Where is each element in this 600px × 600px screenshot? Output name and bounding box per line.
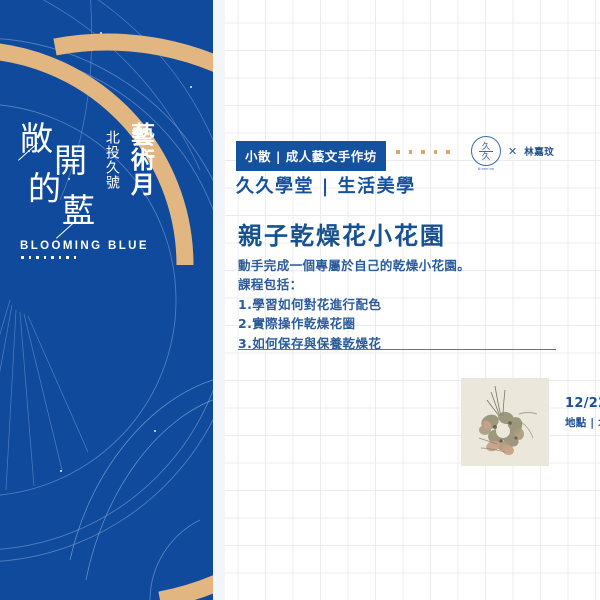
- logo-char-bottom: 久: [471, 153, 501, 162]
- decorative-arcs: [0, 0, 213, 600]
- description-line: 課程包括：: [238, 275, 568, 294]
- logo-caption: Ninenine: [465, 167, 507, 171]
- partner-name: 林嘉玟: [524, 144, 554, 158]
- vertical-label-location: 北投久號: [104, 130, 119, 190]
- series-subtitle: 久久學堂 | 生活美學: [236, 172, 416, 198]
- brand-char-3: 的: [28, 172, 61, 205]
- poster-root: 敞 開 的 藍 BLOOMING BLUE 北投久號 藝術月 小散 | 成人藝文…: [0, 0, 600, 600]
- page-title: 親子乾燥花小花園: [238, 216, 446, 251]
- description-line: 2.實際操作乾燥花圈: [238, 314, 568, 333]
- brand-chinese-logo: 敞 開 的 藍: [18, 122, 138, 247]
- brand-char-4: 藍: [62, 194, 95, 227]
- badge-dot-row: [396, 150, 450, 154]
- session-date: 12/22: [565, 396, 600, 411]
- section-divider: [238, 349, 556, 350]
- cross-icon: ✕: [508, 145, 517, 158]
- dried-flower-illustration: [461, 378, 549, 466]
- content-area: 小散 | 成人藝文手作坊 久 久 Ninenine ✕ 林嘉玟 久久學堂 | 生…: [213, 0, 600, 600]
- brand-char-1: 敞: [20, 122, 53, 155]
- session-datetime: 12/22(日) 15:30-17:30: [565, 396, 600, 411]
- brand-dot-row: [21, 256, 76, 259]
- session-info: 12/22(日) 15:30-17:30 地點 | 北投久號 1F共學教室: [565, 396, 600, 430]
- description-line: 動手完成一個專屬於自己的乾燥小花園。: [238, 256, 568, 275]
- left-brand-panel: 敞 開 的 藍 BLOOMING BLUE 北投久號 藝術月: [0, 0, 213, 600]
- dried-flower-photo: [461, 378, 549, 466]
- category-badge: 小散 | 成人藝文手作坊: [236, 141, 386, 171]
- session-place: 地點 | 北投久號 1F共學教室: [565, 415, 600, 430]
- vertical-label-artmonth: 藝術月: [128, 122, 153, 197]
- partner-logo-lockup: 久 久 Ninenine ✕ 林嘉玟: [471, 136, 554, 166]
- course-description: 動手完成一個專屬於自己的乾燥小花園。 課程包括： 1.學習如何對花進行配色 2.…: [238, 256, 568, 353]
- ninenine-circle-logo: 久 久 Ninenine: [471, 136, 501, 166]
- brand-lockup: 敞 開 的 藍 BLOOMING BLUE 北投久號 藝術月: [18, 122, 198, 292]
- description-line: 1.學習如何對花進行配色: [238, 295, 568, 314]
- brand-english-name: BLOOMING BLUE: [20, 240, 149, 252]
